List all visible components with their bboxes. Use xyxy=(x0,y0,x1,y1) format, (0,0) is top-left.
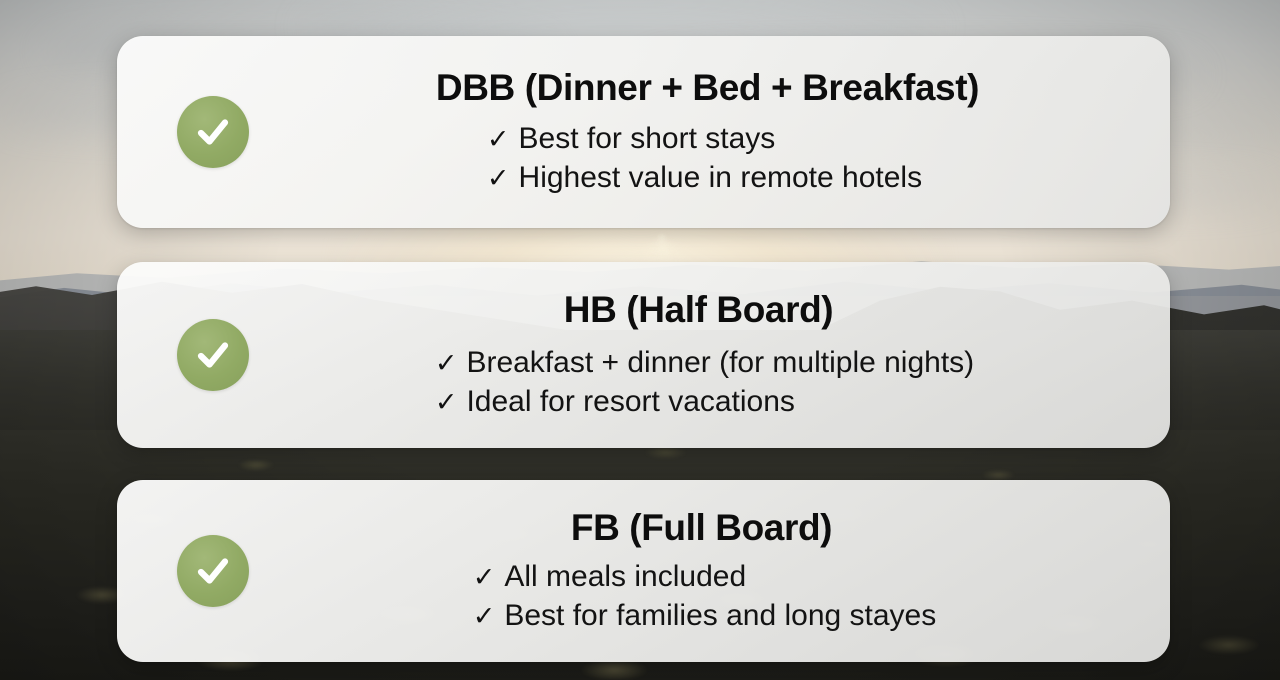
bullet-text: Best for short stays xyxy=(519,120,776,158)
bullet-text: Breakfast + dinner (for multiple nights) xyxy=(466,344,974,382)
list-item: ✓ Highest value in remote hotels xyxy=(487,159,922,197)
card-content: FB (Full Board) ✓ All meals included ✓ B… xyxy=(309,507,1170,635)
bullet-text: Ideal for resort vacations xyxy=(466,383,795,421)
card-bullet-list: ✓ Best for short stays ✓ Highest value i… xyxy=(487,120,922,197)
card-content: DBB (Dinner + Bed + Breakfast) ✓ Best fo… xyxy=(309,67,1170,197)
check-mark-icon: ✓ xyxy=(435,385,458,420)
badge-column xyxy=(117,535,309,607)
card-bullet-list: ✓ All meals included ✓ Best for families… xyxy=(473,558,937,635)
bullet-text: All meals included xyxy=(504,558,746,596)
card-bullet-list: ✓ Breakfast + dinner (for multiple night… xyxy=(435,344,974,421)
check-circle-icon xyxy=(177,319,249,391)
card-content: HB (Half Board) ✓ Breakfast + dinner (fo… xyxy=(309,289,1170,421)
check-circle-icon xyxy=(177,535,249,607)
meal-plan-card-list: DBB (Dinner + Bed + Breakfast) ✓ Best fo… xyxy=(0,0,1280,680)
bullet-text: Best for families and long stayes xyxy=(504,597,936,635)
list-item: ✓ Best for families and long stayes xyxy=(473,597,937,635)
check-mark-icon: ✓ xyxy=(487,122,510,157)
list-item: ✓ All meals included xyxy=(473,558,937,596)
list-item: ✓ Ideal for resort vacations xyxy=(435,383,974,421)
bullet-text: Highest value in remote hotels xyxy=(519,159,923,197)
badge-column xyxy=(117,319,309,391)
check-mark-icon: ✓ xyxy=(487,161,510,196)
check-mark-icon: ✓ xyxy=(473,599,496,634)
check-mark-icon: ✓ xyxy=(473,560,496,595)
list-item: ✓ Best for short stays xyxy=(487,120,922,158)
meal-plan-card-fb[interactable]: FB (Full Board) ✓ All meals included ✓ B… xyxy=(117,480,1170,662)
card-title: FB (Full Board) xyxy=(571,507,832,548)
card-title: DBB (Dinner + Bed + Breakfast) xyxy=(436,67,979,108)
meal-plan-card-dbb[interactable]: DBB (Dinner + Bed + Breakfast) ✓ Best fo… xyxy=(117,36,1170,228)
badge-column xyxy=(117,96,309,168)
check-circle-icon xyxy=(177,96,249,168)
meal-plan-card-hb[interactable]: HB (Half Board) ✓ Breakfast + dinner (fo… xyxy=(117,262,1170,448)
card-title: HB (Half Board) xyxy=(564,289,833,330)
check-mark-icon: ✓ xyxy=(435,346,458,381)
list-item: ✓ Breakfast + dinner (for multiple night… xyxy=(435,344,974,382)
